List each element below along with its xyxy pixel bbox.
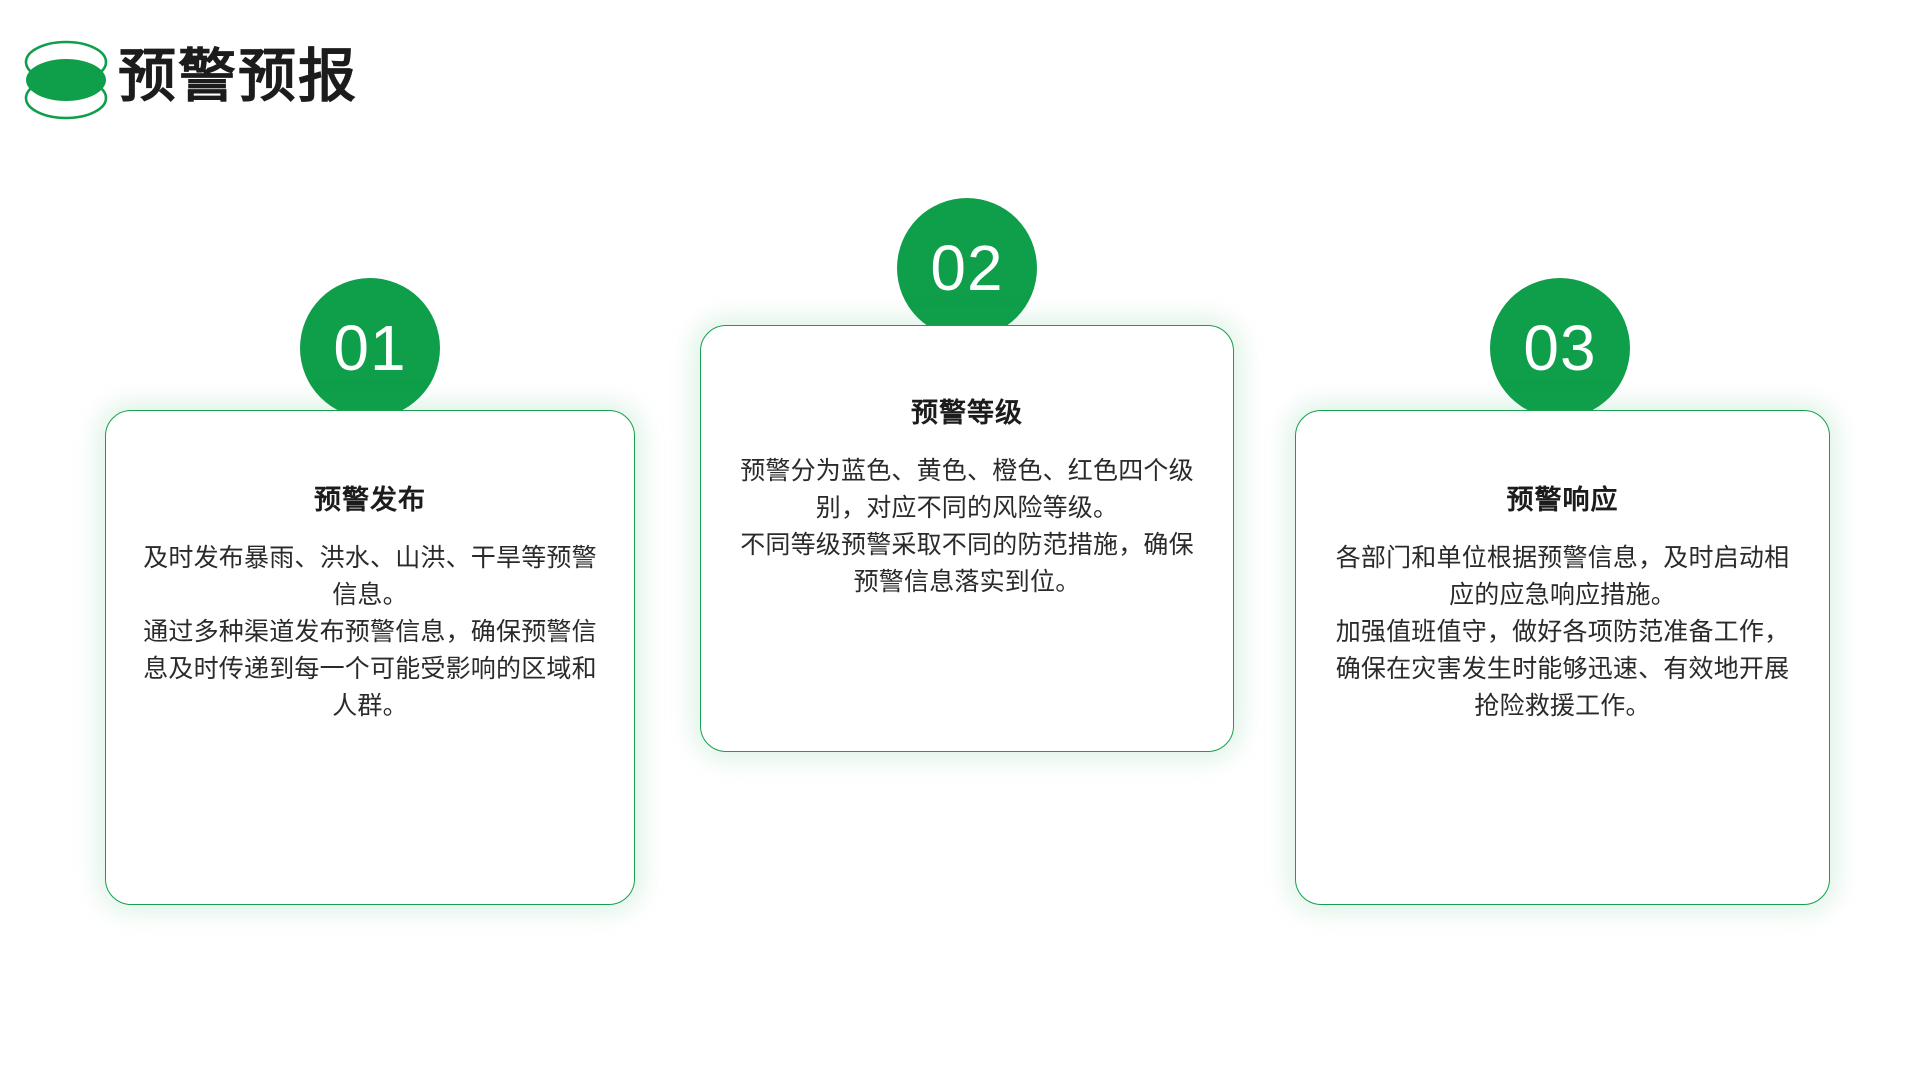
card-content: 预警响应 各部门和单位根据预警信息，及时启动相应的应急响应措施。 加强值班值守，… [1296, 483, 1829, 725]
slide-canvas: 预警预报 01 预警发布 及时发布暴雨、洪水、山洪、干旱等预警信息。 通过多种渠… [0, 0, 1920, 1080]
card-title: 预警响应 [1324, 483, 1801, 518]
card-body-text: 预警分为蓝色、黄色、橙色、红色四个级别，对应不同的风险等级。 不同等级预警采取不… [729, 453, 1205, 601]
card-number-badge-01: 01 [300, 278, 440, 418]
slide-header: 预警预报 [0, 0, 1920, 160]
card-number-badge-03: 03 [1490, 278, 1630, 418]
card-title: 预警发布 [134, 483, 606, 518]
card-warning-response[interactable]: 预警响应 各部门和单位根据预警信息，及时启动相应的应急响应措施。 加强值班值守，… [1295, 410, 1830, 905]
page-title: 预警预报 [118, 48, 358, 106]
card-body-text: 及时发布暴雨、洪水、山洪、干旱等预警信息。 通过多种渠道发布预警信息，确保预警信… [134, 540, 606, 725]
card-content: 预警发布 及时发布暴雨、洪水、山洪、干旱等预警信息。 通过多种渠道发布预警信息，… [106, 483, 634, 725]
card-content: 预警等级 预警分为蓝色、黄色、橙色、红色四个级别，对应不同的风险等级。 不同等级… [701, 396, 1233, 601]
card-warning-release[interactable]: 预警发布 及时发布暴雨、洪水、山洪、干旱等预警信息。 通过多种渠道发布预警信息，… [105, 410, 635, 905]
card-body-text: 各部门和单位根据预警信息，及时启动相应的应急响应措施。 加强值班值守，做好各项防… [1324, 540, 1801, 725]
card-title: 预警等级 [729, 396, 1205, 431]
double-ellipse-logo-icon [14, 32, 118, 128]
card-number-badge-02: 02 [897, 198, 1037, 338]
card-warning-levels[interactable]: 预警等级 预警分为蓝色、黄色、橙色、红色四个级别，对应不同的风险等级。 不同等级… [700, 325, 1234, 752]
